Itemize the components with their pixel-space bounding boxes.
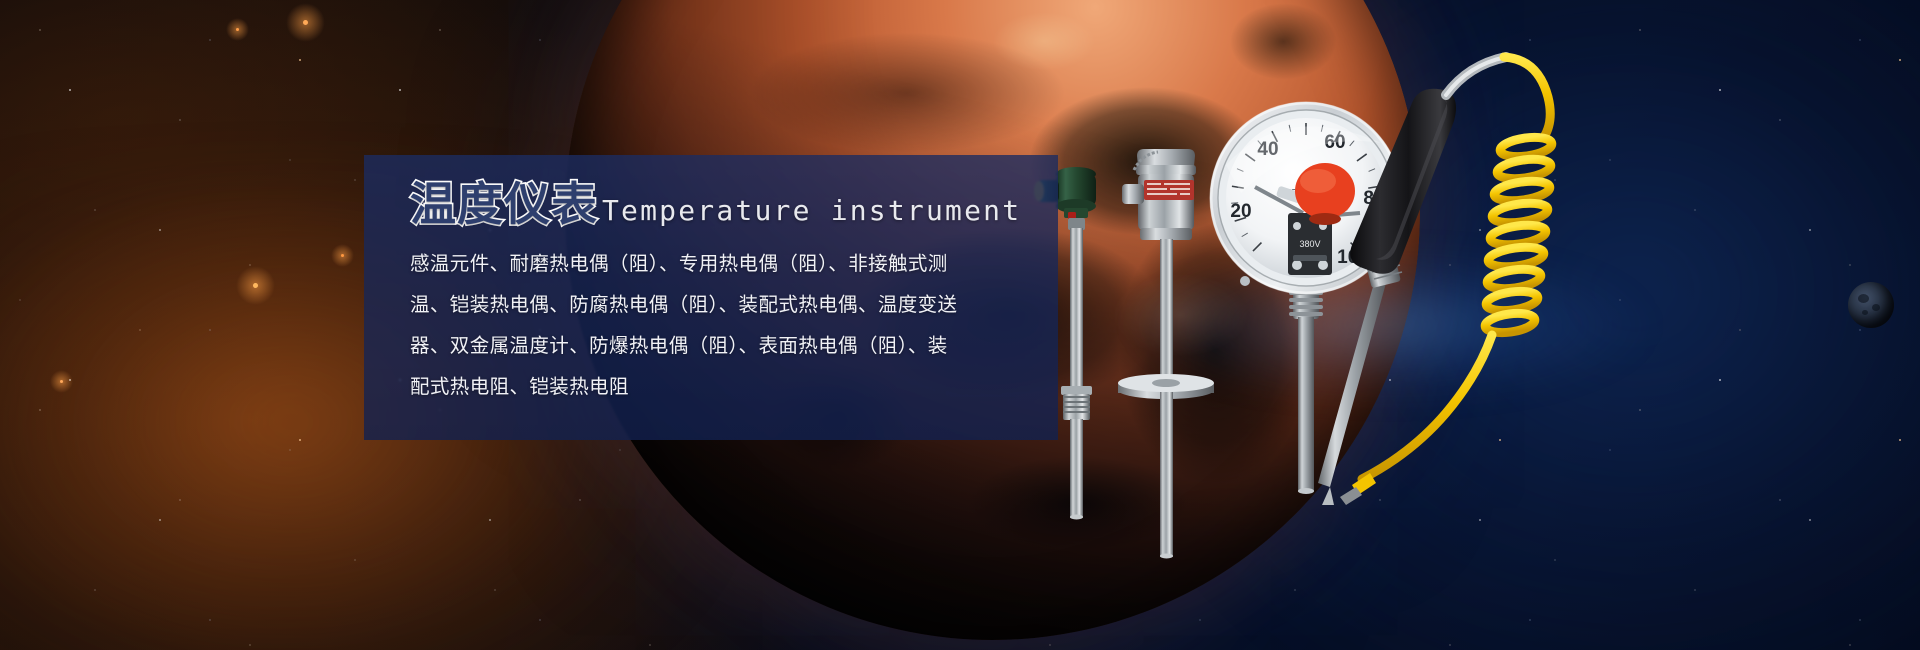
gauge-tick-20: 20 xyxy=(1230,201,1251,222)
product-description: 感温元件、耐磨热电偶（阻）、专用热电偶（阻）、非接触式测 温、铠装热电偶、防腐热… xyxy=(410,243,1030,407)
description-line: 温、铠装热电偶、防腐热电偶（阻）、装配式热电偶、温度变送 xyxy=(410,284,1030,325)
page-title-cn: 温度仪表 xyxy=(410,181,598,227)
handheld-surface-probe xyxy=(1300,35,1630,505)
title-row: 温度仪表 Temperature instrument xyxy=(410,181,1036,227)
page-title-en: Temperature instrument xyxy=(602,197,1021,227)
description-line: 配式热电阻、铠装热电阻 xyxy=(410,366,1030,407)
panel-content: 温度仪表 Temperature instrument 感温元件、耐磨热电偶（阻… xyxy=(410,181,1036,407)
product-banner: 20 40 60 80 100 WSS 380V xyxy=(0,0,1920,650)
text-overlay-panel: 温度仪表 Temperature instrument 感温元件、耐磨热电偶（阻… xyxy=(364,155,1058,440)
description-line: 器、双金属温度计、防爆热电偶（阻）、表面热电偶（阻）、装 xyxy=(410,325,1030,366)
description-line: 感温元件、耐磨热电偶（阻）、专用热电偶（阻）、非接触式测 xyxy=(410,243,1030,284)
